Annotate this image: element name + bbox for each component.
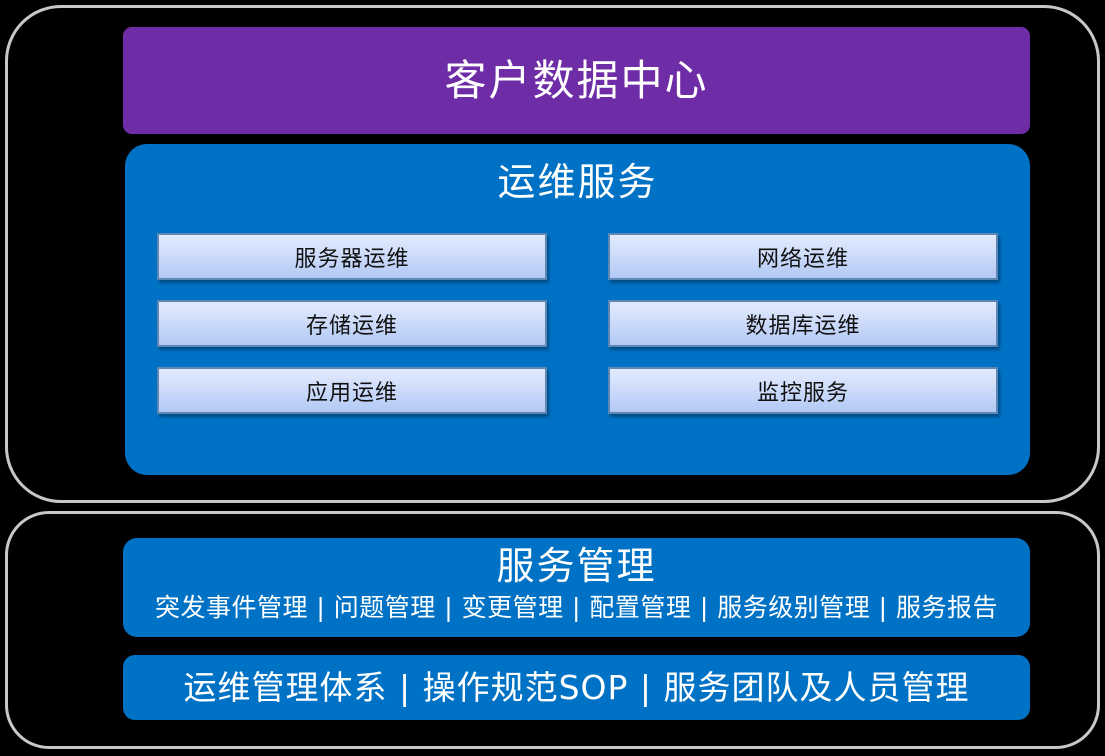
service-management-panel[interactable]: 服务管理 突发事件管理 | 问题管理 | 变更管理 | 配置管理 | 服务级别管… <box>123 538 1030 637</box>
service-box-application-ops[interactable]: 应用运维 <box>157 367 547 414</box>
service-box-label: 数据库运维 <box>745 308 860 340</box>
service-box-monitoring-service[interactable]: 监控服务 <box>608 367 998 414</box>
service-management-title: 服务管理 <box>496 541 656 592</box>
operations-service-panel[interactable]: 运维服务 服务器运维 网络运维 存储运维 数据库运维 应用运维 监控服务 <box>125 144 1030 475</box>
service-box-label: 网络运维 <box>757 241 849 273</box>
service-box-storage-ops[interactable]: 存储运维 <box>157 300 547 347</box>
customer-data-center-title: 客户数据中心 <box>444 60 708 102</box>
service-box-label: 应用运维 <box>306 375 398 407</box>
service-box-label: 服务器运维 <box>294 241 409 273</box>
service-box-label: 存储运维 <box>306 308 398 340</box>
governance-title: 运维管理体系 | 操作规范SOP | 服务团队及人员管理 <box>183 671 969 704</box>
governance-panel[interactable]: 运维管理体系 | 操作规范SOP | 服务团队及人员管理 <box>123 655 1030 720</box>
operations-service-title: 运维服务 <box>125 162 1030 204</box>
service-box-network-ops[interactable]: 网络运维 <box>608 233 998 280</box>
service-box-label: 监控服务 <box>757 375 849 407</box>
service-management-subtitle: 突发事件管理 | 问题管理 | 变更管理 | 配置管理 | 服务级别管理 | 服… <box>155 594 998 622</box>
service-box-database-ops[interactable]: 数据库运维 <box>608 300 998 347</box>
service-box-server-ops[interactable]: 服务器运维 <box>157 233 547 280</box>
customer-data-center-panel[interactable]: 客户数据中心 <box>123 27 1030 134</box>
operations-service-grid: 服务器运维 网络运维 存储运维 数据库运维 应用运维 监控服务 <box>157 233 998 414</box>
